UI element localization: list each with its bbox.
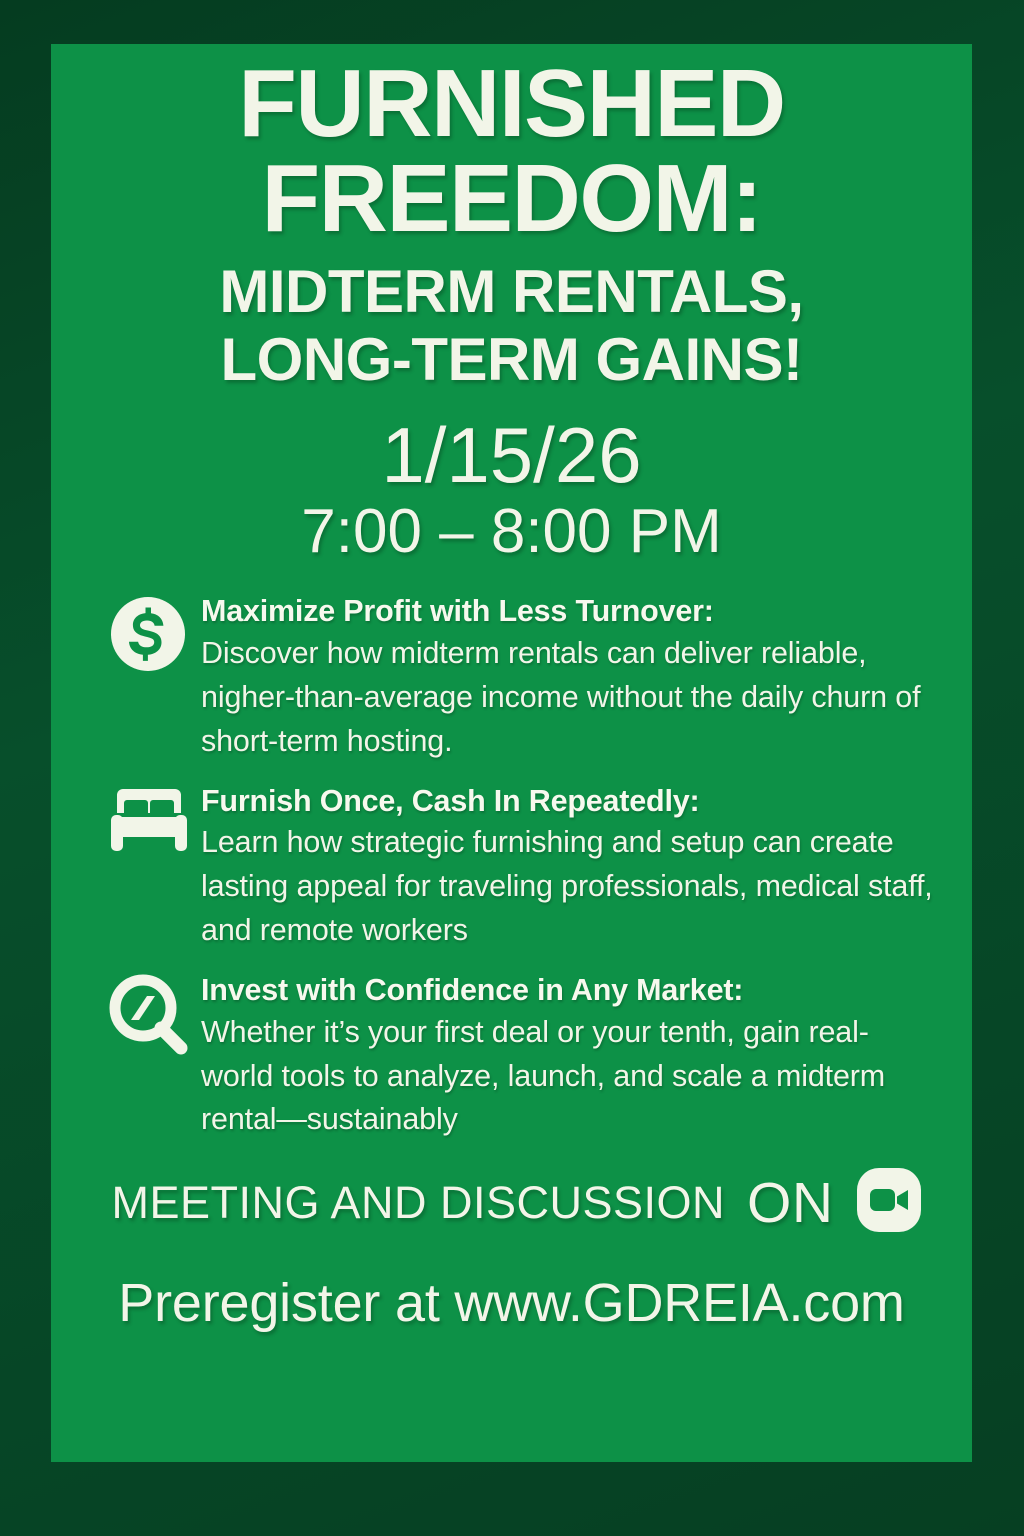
list-item-heading: Maximize Profit with Less Turnover: — [201, 592, 934, 632]
event-datetime-block: 1/15/26 7:00 – 8:00 PM — [51, 416, 972, 570]
flyer-inner-panel: FURNISHED FREEDOM: MIDTERM RENTALS, LONG… — [51, 44, 972, 1462]
list-item: Furnish Once, Cash In Repeatedly: Learn … — [109, 781, 934, 953]
list-item-heading: Furnish Once, Cash In Repeatedly: — [201, 782, 934, 822]
bed-icon — [109, 781, 201, 863]
subtitle-line-1: MIDTERM RENTALS, — [51, 258, 972, 326]
meeting-on-label: ON — [747, 1170, 834, 1236]
list-item-text: Whether it’s your first deal or your ten… — [201, 1011, 934, 1143]
meeting-platform-row: MEETING AND DISCUSSION ON — [51, 1167, 972, 1238]
list-item-body: Maximize Profit with Less Turnover: Disc… — [201, 591, 934, 763]
list-item-body: Invest with Confidence in Any Market: Wh… — [201, 970, 934, 1142]
zoom-icon — [856, 1167, 922, 1238]
list-item-text: Learn how strategic furnishing and setup… — [201, 821, 934, 953]
meeting-label: MEETING AND DISCUSSION — [111, 1177, 725, 1229]
title-block: FURNISHED FREEDOM: — [51, 56, 972, 246]
list-item-body: Furnish Once, Cash In Repeatedly: Learn … — [201, 781, 934, 953]
flyer-poster: FURNISHED FREEDOM: MIDTERM RENTALS, LONG… — [0, 0, 1024, 1536]
title-line-1: FURNISHED — [51, 56, 972, 151]
footer-block: MEETING AND DISCUSSION ON Preregister at… — [51, 1167, 972, 1334]
preregister-link[interactable]: Preregister at www.GDREIA.com — [51, 1272, 972, 1334]
dollar-coin-icon — [109, 591, 201, 673]
list-item-heading: Invest with Confidence in Any Market: — [201, 971, 934, 1011]
list-item-text: Discover how midterm rentals can deliver… — [201, 632, 934, 764]
list-item: Maximize Profit with Less Turnover: Disc… — [109, 591, 934, 763]
magnifier-compass-icon — [109, 970, 201, 1052]
event-date: 1/15/26 — [51, 416, 972, 494]
title-line-2: FREEDOM: — [51, 151, 972, 246]
subtitle-block: MIDTERM RENTALS, LONG-TERM GAINS! — [51, 258, 972, 394]
event-time: 7:00 – 8:00 PM — [51, 494, 972, 570]
list-item: Invest with Confidence in Any Market: Wh… — [109, 970, 934, 1142]
subtitle-line-2: LONG-TERM GAINS! — [51, 326, 972, 394]
benefits-list: Maximize Profit with Less Turnover: Disc… — [51, 591, 972, 1159]
